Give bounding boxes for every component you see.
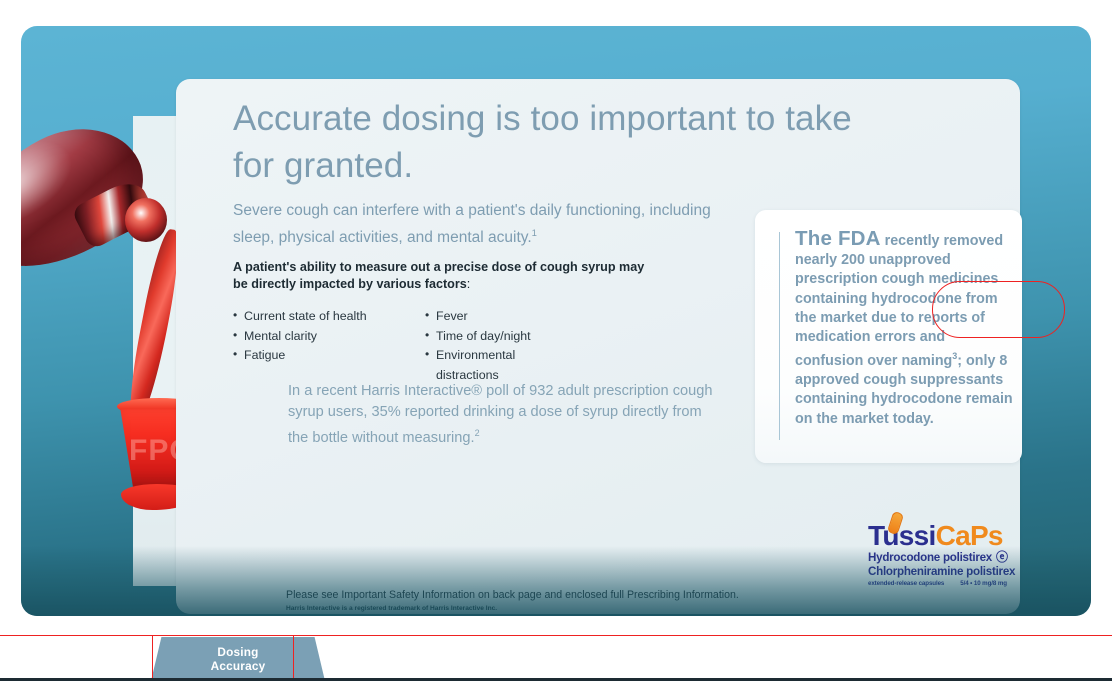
- factors-column-right: Fever Time of day/night Environmental di…: [425, 307, 573, 385]
- logo-dosage-form: extended-release capsules: [868, 580, 944, 587]
- lede-text: Severe cough can interfere with a patien…: [233, 202, 711, 246]
- fda-lead: The FDA: [795, 227, 881, 250]
- tab-label-line1: Dosing: [217, 645, 258, 659]
- logo-ingredient-1-row: Hydrocodone polistirexⓔ: [868, 551, 1014, 565]
- lede-footnote-marker: 1: [532, 228, 537, 239]
- bottle-mouth-icon: [125, 198, 167, 242]
- tab-label-line2: Accuracy: [211, 659, 266, 673]
- logo-ingredient-2: Chlorpheniramine polistirex: [868, 565, 1014, 579]
- factors-lead-bold: A patient's ability to measure out a pre…: [233, 260, 644, 291]
- teal-card-background: FPO Accurate dosing is too important to …: [21, 26, 1091, 616]
- logo-strength: 5/4 • 10 mg/8 mg: [960, 580, 1007, 587]
- fda-callout-box: The FDA recently removed nearly 200 unap…: [755, 210, 1022, 463]
- list-item: Time of day/night: [425, 327, 573, 347]
- factors-column-left: Current state of health Mental clarity F…: [233, 307, 381, 385]
- list-item: Current state of health: [233, 307, 381, 327]
- logo-brand-part2: CaPs: [936, 520, 1003, 551]
- page-title: Accurate dosing is too important to take…: [233, 95, 873, 189]
- list-item: Environmental distractions: [425, 346, 573, 385]
- logo-brand-part1: Tussi: [868, 520, 936, 551]
- tab-label: Dosing Accuracy: [211, 645, 266, 673]
- fda-callout-text: The FDA recently removed nearly 200 unap…: [795, 229, 1017, 429]
- tab-dosing-accuracy[interactable]: Dosing Accuracy: [151, 637, 325, 681]
- fda-body-part1: recently removed nearly 200 unapproved p…: [795, 233, 1003, 369]
- lede-paragraph: Severe cough can interfere with a patien…: [233, 199, 753, 249]
- content-panel: Accurate dosing is too important to take…: [176, 79, 1020, 614]
- list-item: Fever: [425, 307, 573, 327]
- list-item: Fatigue: [233, 346, 381, 366]
- schedule-ciii-icon: ⓔ: [996, 551, 1008, 565]
- poll-text: In a recent Harris Interactive® poll of …: [288, 383, 712, 446]
- annotation-divider-line: [0, 635, 1112, 636]
- logo-ingredient-1: Hydrocodone polistirex: [868, 551, 992, 564]
- fda-accent-rule: [779, 232, 780, 440]
- logo-wordmark: TussiCaPs: [868, 521, 1014, 551]
- factors-lead: A patient's ability to measure out a pre…: [233, 259, 653, 293]
- poll-paragraph: In a recent Harris Interactive® poll of …: [288, 381, 718, 449]
- factors-list: Current state of health Mental clarity F…: [233, 307, 703, 385]
- factors-lead-colon: :: [467, 277, 471, 291]
- page-root: FPO Accurate dosing is too important to …: [0, 0, 1112, 681]
- tussicaps-logo: TussiCaPs Hydrocodone polistirexⓔ Chlorp…: [868, 521, 1014, 587]
- poll-footnote-marker: 2: [475, 428, 480, 438]
- list-item: Mental clarity: [233, 327, 381, 347]
- footer-trademark-text: Harris Interactive is a registered trade…: [286, 605, 497, 612]
- logo-fine-print: extended-release capsules5/4 • 10 mg/8 m…: [868, 580, 1014, 587]
- footer-isi-text: Please see Important Safety Information …: [286, 589, 739, 601]
